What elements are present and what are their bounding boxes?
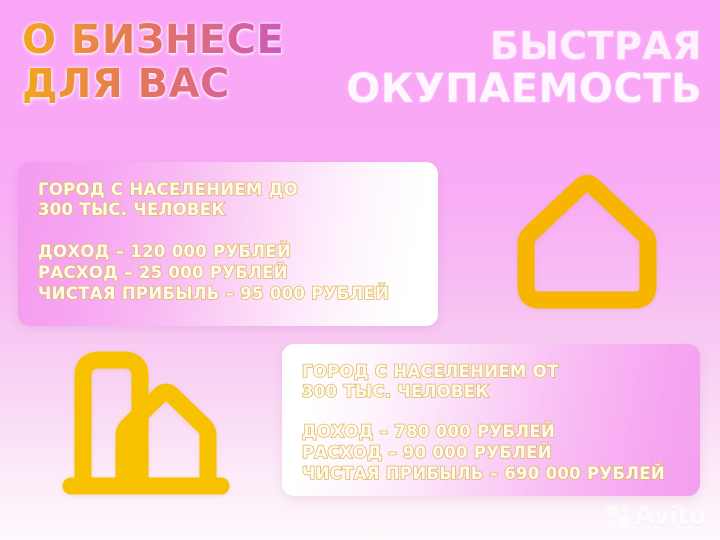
avito-wordmark: Avito: [635, 501, 706, 530]
house-outline-icon: [508, 168, 666, 320]
card-stats: ДОХОД – 120 000 РУБЛЕЙ РАСХОД – 25 000 Р…: [38, 242, 418, 304]
card-title: ГОРОД С НАСЕЛЕНИЕМ ОТ 300 ТЫС. ЧЕЛОВЕК: [302, 362, 680, 402]
card-title-line1: ГОРОД С НАСЕЛЕНИЕМ ДО: [38, 180, 418, 200]
card-title-line1: ГОРОД С НАСЕЛЕНИЕМ ОТ: [302, 362, 680, 382]
card-stats: ДОХОД – 780 000 РУБЛЕЙ РАСХОД – 90 000 Р…: [302, 422, 680, 484]
avito-watermark: Avito: [605, 501, 706, 530]
headline-right: БЫСТРАЯ ОКУПАЕМОСТЬ: [346, 28, 702, 108]
stat-net-profit: ЧИСТАЯ ПРИБЫЛЬ – 95 000 РУБЛЕЙ: [38, 284, 418, 305]
headline-left-line1: О БИЗНЕСЕ: [22, 22, 352, 59]
stat-income: ДОХОД – 780 000 РУБЛЕЙ: [302, 422, 680, 443]
avito-logo-icon: [605, 503, 631, 529]
card-title: ГОРОД С НАСЕЛЕНИЕМ ДО 300 ТЫС. ЧЕЛОВЕК: [38, 180, 418, 220]
card-title-line2: 300 ТЫС. ЧЕЛОВЕК: [302, 382, 680, 402]
headline-left: О БИЗНЕСЕ ДЛЯ ВАС: [22, 22, 352, 103]
promo-slide: О БИЗНЕСЕ ДЛЯ ВАС БЫСТРАЯ ОКУПАЕМОСТЬ ГО…: [0, 0, 720, 540]
info-card-large-city: ГОРОД С НАСЕЛЕНИЕМ ОТ 300 ТЫС. ЧЕЛОВЕК Д…: [282, 344, 700, 496]
info-card-small-city: ГОРОД С НАСЕЛЕНИЕМ ДО 300 ТЫС. ЧЕЛОВЕК Д…: [18, 162, 438, 326]
headline-right-line2: ОКУПАЕМОСТЬ: [346, 70, 702, 108]
headline-left-line2: ДЛЯ ВАС: [22, 66, 352, 103]
stat-net-profit: ЧИСТАЯ ПРИБЫЛЬ – 690 000 РУБЛЕЙ: [302, 464, 680, 485]
stat-income: ДОХОД – 120 000 РУБЛЕЙ: [38, 242, 418, 263]
stat-expense: РАСХОД – 90 000 РУБЛЕЙ: [302, 443, 680, 464]
card-title-line2: 300 ТЫС. ЧЕЛОВЕК: [38, 200, 418, 220]
stat-expense: РАСХОД – 25 000 РУБЛЕЙ: [38, 263, 418, 284]
headline-right-line1: БЫСТРАЯ: [346, 28, 702, 64]
city-buildings-icon: [60, 344, 240, 506]
